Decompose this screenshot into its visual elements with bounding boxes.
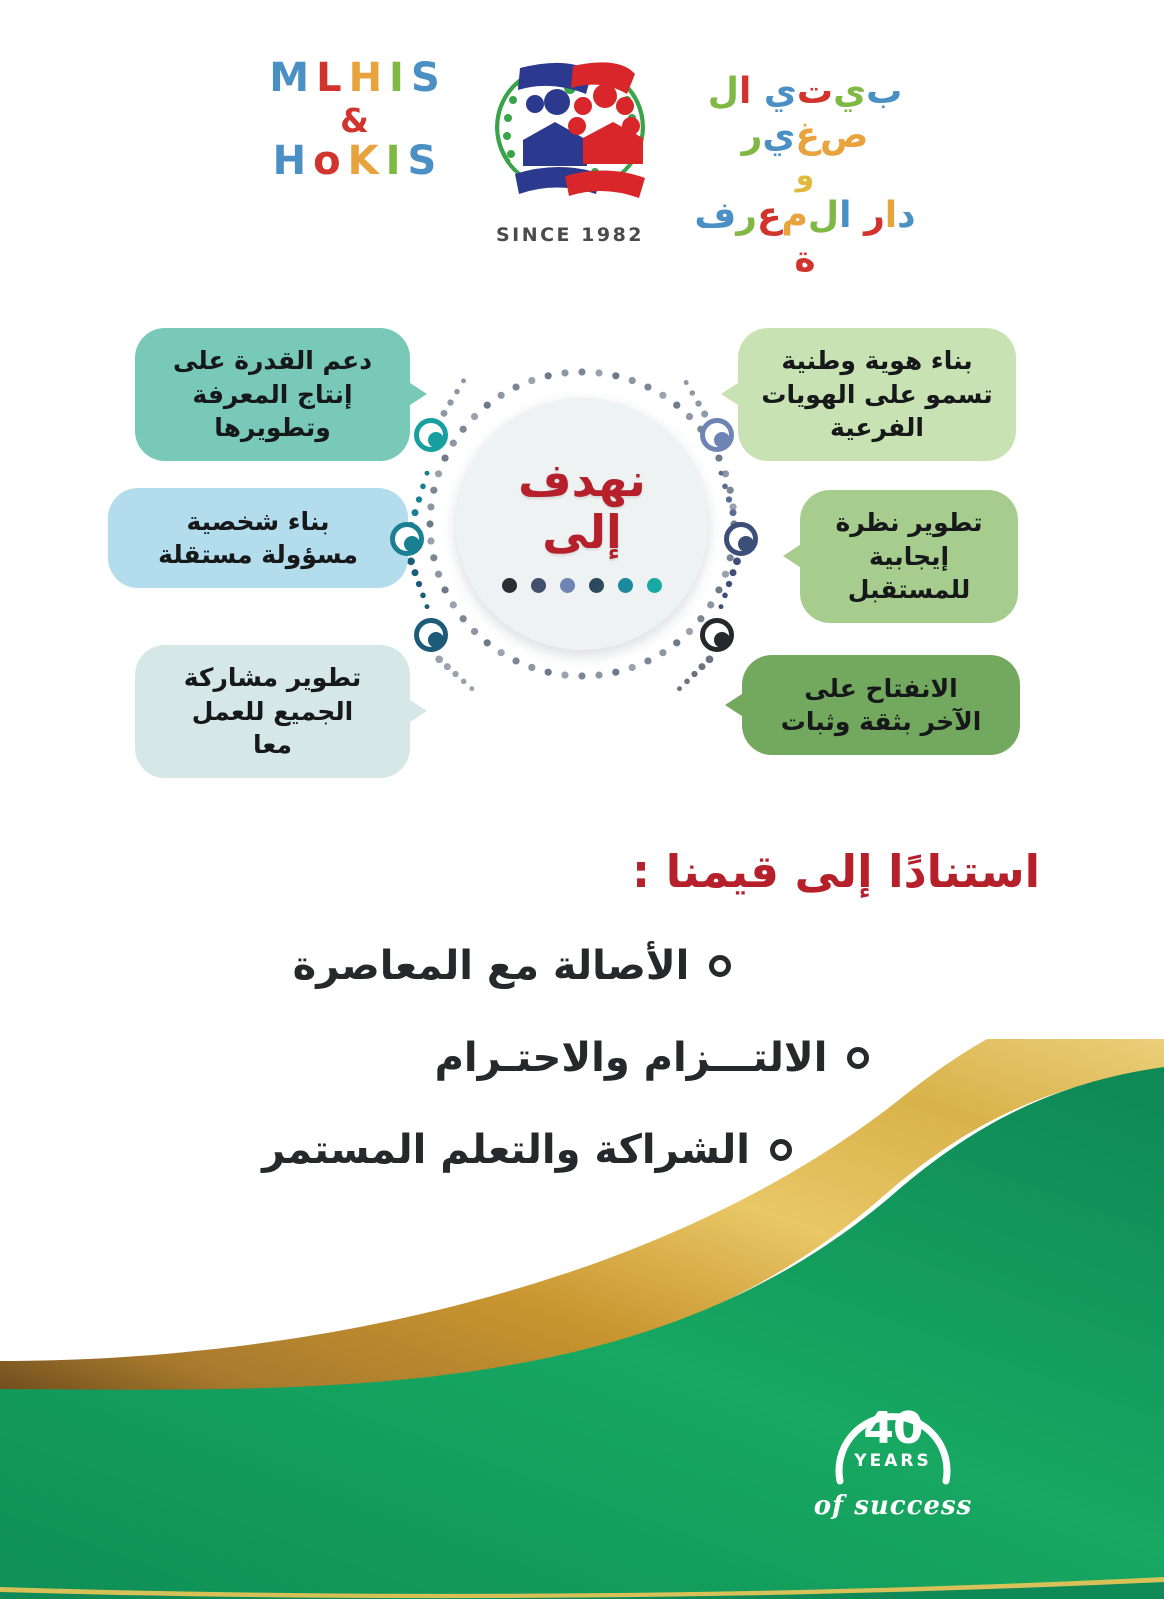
- bubble-knowledge-production-line-1: إنتاج المعرفة: [192, 378, 352, 412]
- bubble-participation-teamwork-tail: [407, 698, 427, 724]
- brand-ar-letter-l3-5: ل: [808, 194, 839, 238]
- brand-ar-letter-l1-5: ا: [739, 70, 751, 114]
- brand-en-row-2: &: [258, 104, 458, 137]
- node-bottom-left[interactable]: [414, 618, 448, 652]
- bubble-national-identity-line-0: بناء هوية وطنية: [781, 344, 972, 378]
- brand-ar-letter-l3-4: ا: [839, 194, 851, 238]
- node-middle-left[interactable]: [390, 522, 424, 556]
- brand-ar-letter-l1-3: ي: [764, 70, 797, 114]
- brand-en-letter-r1-4: S: [411, 58, 447, 98]
- brand-ar-letter-l1-0: ب: [866, 70, 902, 114]
- brand-ar-letter-l3-1: ا: [885, 194, 897, 238]
- brand-en-letter-r3-0: H: [273, 141, 313, 181]
- anniversary-badge: 40 YEARS of success: [798, 1383, 988, 1533]
- since-label: SINCE 1982: [465, 224, 675, 246]
- brand-ar-letter-l3-2: ر: [864, 194, 885, 238]
- brand-ar-letter-l1-10: ر: [742, 114, 763, 158]
- bubble-positive-outlook[interactable]: تطوير نظرة إيجابيةللمستقبل: [800, 490, 1018, 623]
- node-top-right[interactable]: [700, 418, 734, 452]
- bubble-knowledge-production-tail: [407, 381, 427, 407]
- brand-ar-letter-l3-0: د: [897, 194, 915, 238]
- node-top-left[interactable]: [414, 418, 448, 452]
- bubble-positive-outlook-line-0: تطوير نظرة إيجابية: [818, 506, 1000, 573]
- bubble-knowledge-production[interactable]: دعم القدرة علىإنتاج المعرفةوتطويرها: [135, 328, 410, 461]
- brand-ar-letter-l1-9: ي: [762, 114, 795, 158]
- brand-ar-letter-l1-6: ل: [708, 70, 739, 114]
- anniversary-number: 40: [798, 1407, 988, 1451]
- goals-diagram: نهدف إلى دعم القدرة علىإنتاج المعرفةوتطو…: [0, 300, 1164, 800]
- brand-logo-arabic: بيتي الصغير و دار المعرفة: [690, 70, 920, 282]
- bubble-openness-to-other-tail: [725, 692, 745, 718]
- brand-ar-line-2: و: [690, 158, 920, 195]
- brand-ar-letter-l3-7: ع: [757, 194, 782, 238]
- value-text-1: الأصالة مع المعاصرة: [293, 941, 690, 991]
- brand-en-letter-r3-3: I: [386, 141, 408, 181]
- brand-ar-line-3: دار المعرفة: [690, 194, 920, 282]
- bubble-positive-outlook-tail: [783, 543, 803, 569]
- brand-en-row-3: HoKIS: [258, 141, 458, 181]
- brand-ar-letter-l3-6: م: [782, 194, 808, 238]
- value-item-1: الأصالة مع المعاصرة: [0, 941, 1094, 991]
- bubble-openness-to-other[interactable]: الانفتاح علىالآخر بثقة وثبات: [742, 655, 1020, 755]
- bubble-participation-teamwork-line-1: الجميع للعمل: [192, 695, 354, 729]
- node-bottom-right[interactable]: [700, 618, 734, 652]
- brand-en-letter-r2-0: &: [340, 104, 376, 137]
- brand-en-letter-r1-2: H: [349, 58, 389, 98]
- poster-header: MLHIS & HoKIS: [0, 36, 1164, 236]
- bubble-national-identity-line-1: تسمو على الهويات: [761, 378, 992, 412]
- bubble-responsible-personality-line-0: بناء شخصية: [186, 505, 329, 539]
- bubble-responsible-personality[interactable]: بناء شخصيةمسؤولة مستقلة: [108, 488, 408, 588]
- brand-ar-letter-l3-3: [852, 194, 865, 238]
- value-bullet-icon-1: [709, 955, 731, 977]
- brand-ar-letter-l3-9: ف: [694, 194, 736, 238]
- poster-footer: 40 YEARS of success: [0, 1039, 1164, 1599]
- bubble-positive-outlook-line-1: للمستقبل: [848, 573, 971, 607]
- brand-ar-letter-l1-1: ي: [833, 70, 866, 114]
- bubble-participation-teamwork-line-0: تطوير مشاركة: [184, 661, 361, 695]
- bubble-national-identity[interactable]: بناء هوية وطنيةتسمو على الهوياتالفرعية: [738, 328, 1016, 461]
- anniversary-years-label: YEARS: [798, 1453, 988, 1470]
- brand-ar-letter-l1-7: ص: [820, 114, 868, 158]
- school-crest-icon: [465, 44, 675, 244]
- bubble-responsible-personality-line-1: مسؤولة مستقلة: [158, 538, 358, 572]
- brand-en-letter-r3-1: o: [313, 141, 347, 181]
- bubble-participation-teamwork-line-2: معا: [253, 728, 292, 762]
- brand-ar-letter-l1-2: ت: [797, 70, 833, 114]
- values-title: استنادًا إلى قيمنا :: [0, 845, 1164, 899]
- brand-en-letter-r1-3: I: [389, 58, 411, 98]
- bubble-knowledge-production-line-2: وتطويرها: [214, 411, 331, 445]
- brand-en-letter-r3-4: S: [408, 141, 444, 181]
- bubble-openness-to-other-line-0: الانفتاح على: [804, 672, 957, 706]
- poster-page: MLHIS & HoKIS: [0, 0, 1164, 1599]
- brand-en-letter-r1-1: L: [316, 58, 349, 98]
- brand-en-letter-r1-0: M: [269, 58, 316, 98]
- node-middle-right[interactable]: [724, 522, 758, 556]
- brand-en-row-1: MLHIS: [258, 58, 458, 98]
- bubble-participation-teamwork[interactable]: تطوير مشاركةالجميع للعملمعا: [135, 645, 410, 778]
- bubble-openness-to-other-line-1: الآخر بثقة وثبات: [781, 705, 982, 739]
- brand-ar-letter-l1-8: غ: [795, 114, 820, 158]
- anniversary-tagline: of success: [798, 1491, 988, 1521]
- brand-ar-letter-l1-4: [751, 70, 764, 114]
- bubble-national-identity-line-2: الفرعية: [830, 411, 924, 445]
- wave-decoration: [0, 1039, 1164, 1599]
- brand-logo-english: MLHIS & HoKIS: [258, 58, 458, 218]
- brand-en-letter-r3-2: K: [348, 141, 386, 181]
- bubble-knowledge-production-line-0: دعم القدرة على: [173, 344, 372, 378]
- bubble-national-identity-tail: [721, 381, 741, 407]
- brand-ar-line-1: بيتي الصغير: [690, 70, 920, 158]
- brand-ar-letter-l3-8: ر: [736, 194, 757, 238]
- brand-ar-letter-l3-10: ة: [794, 238, 815, 282]
